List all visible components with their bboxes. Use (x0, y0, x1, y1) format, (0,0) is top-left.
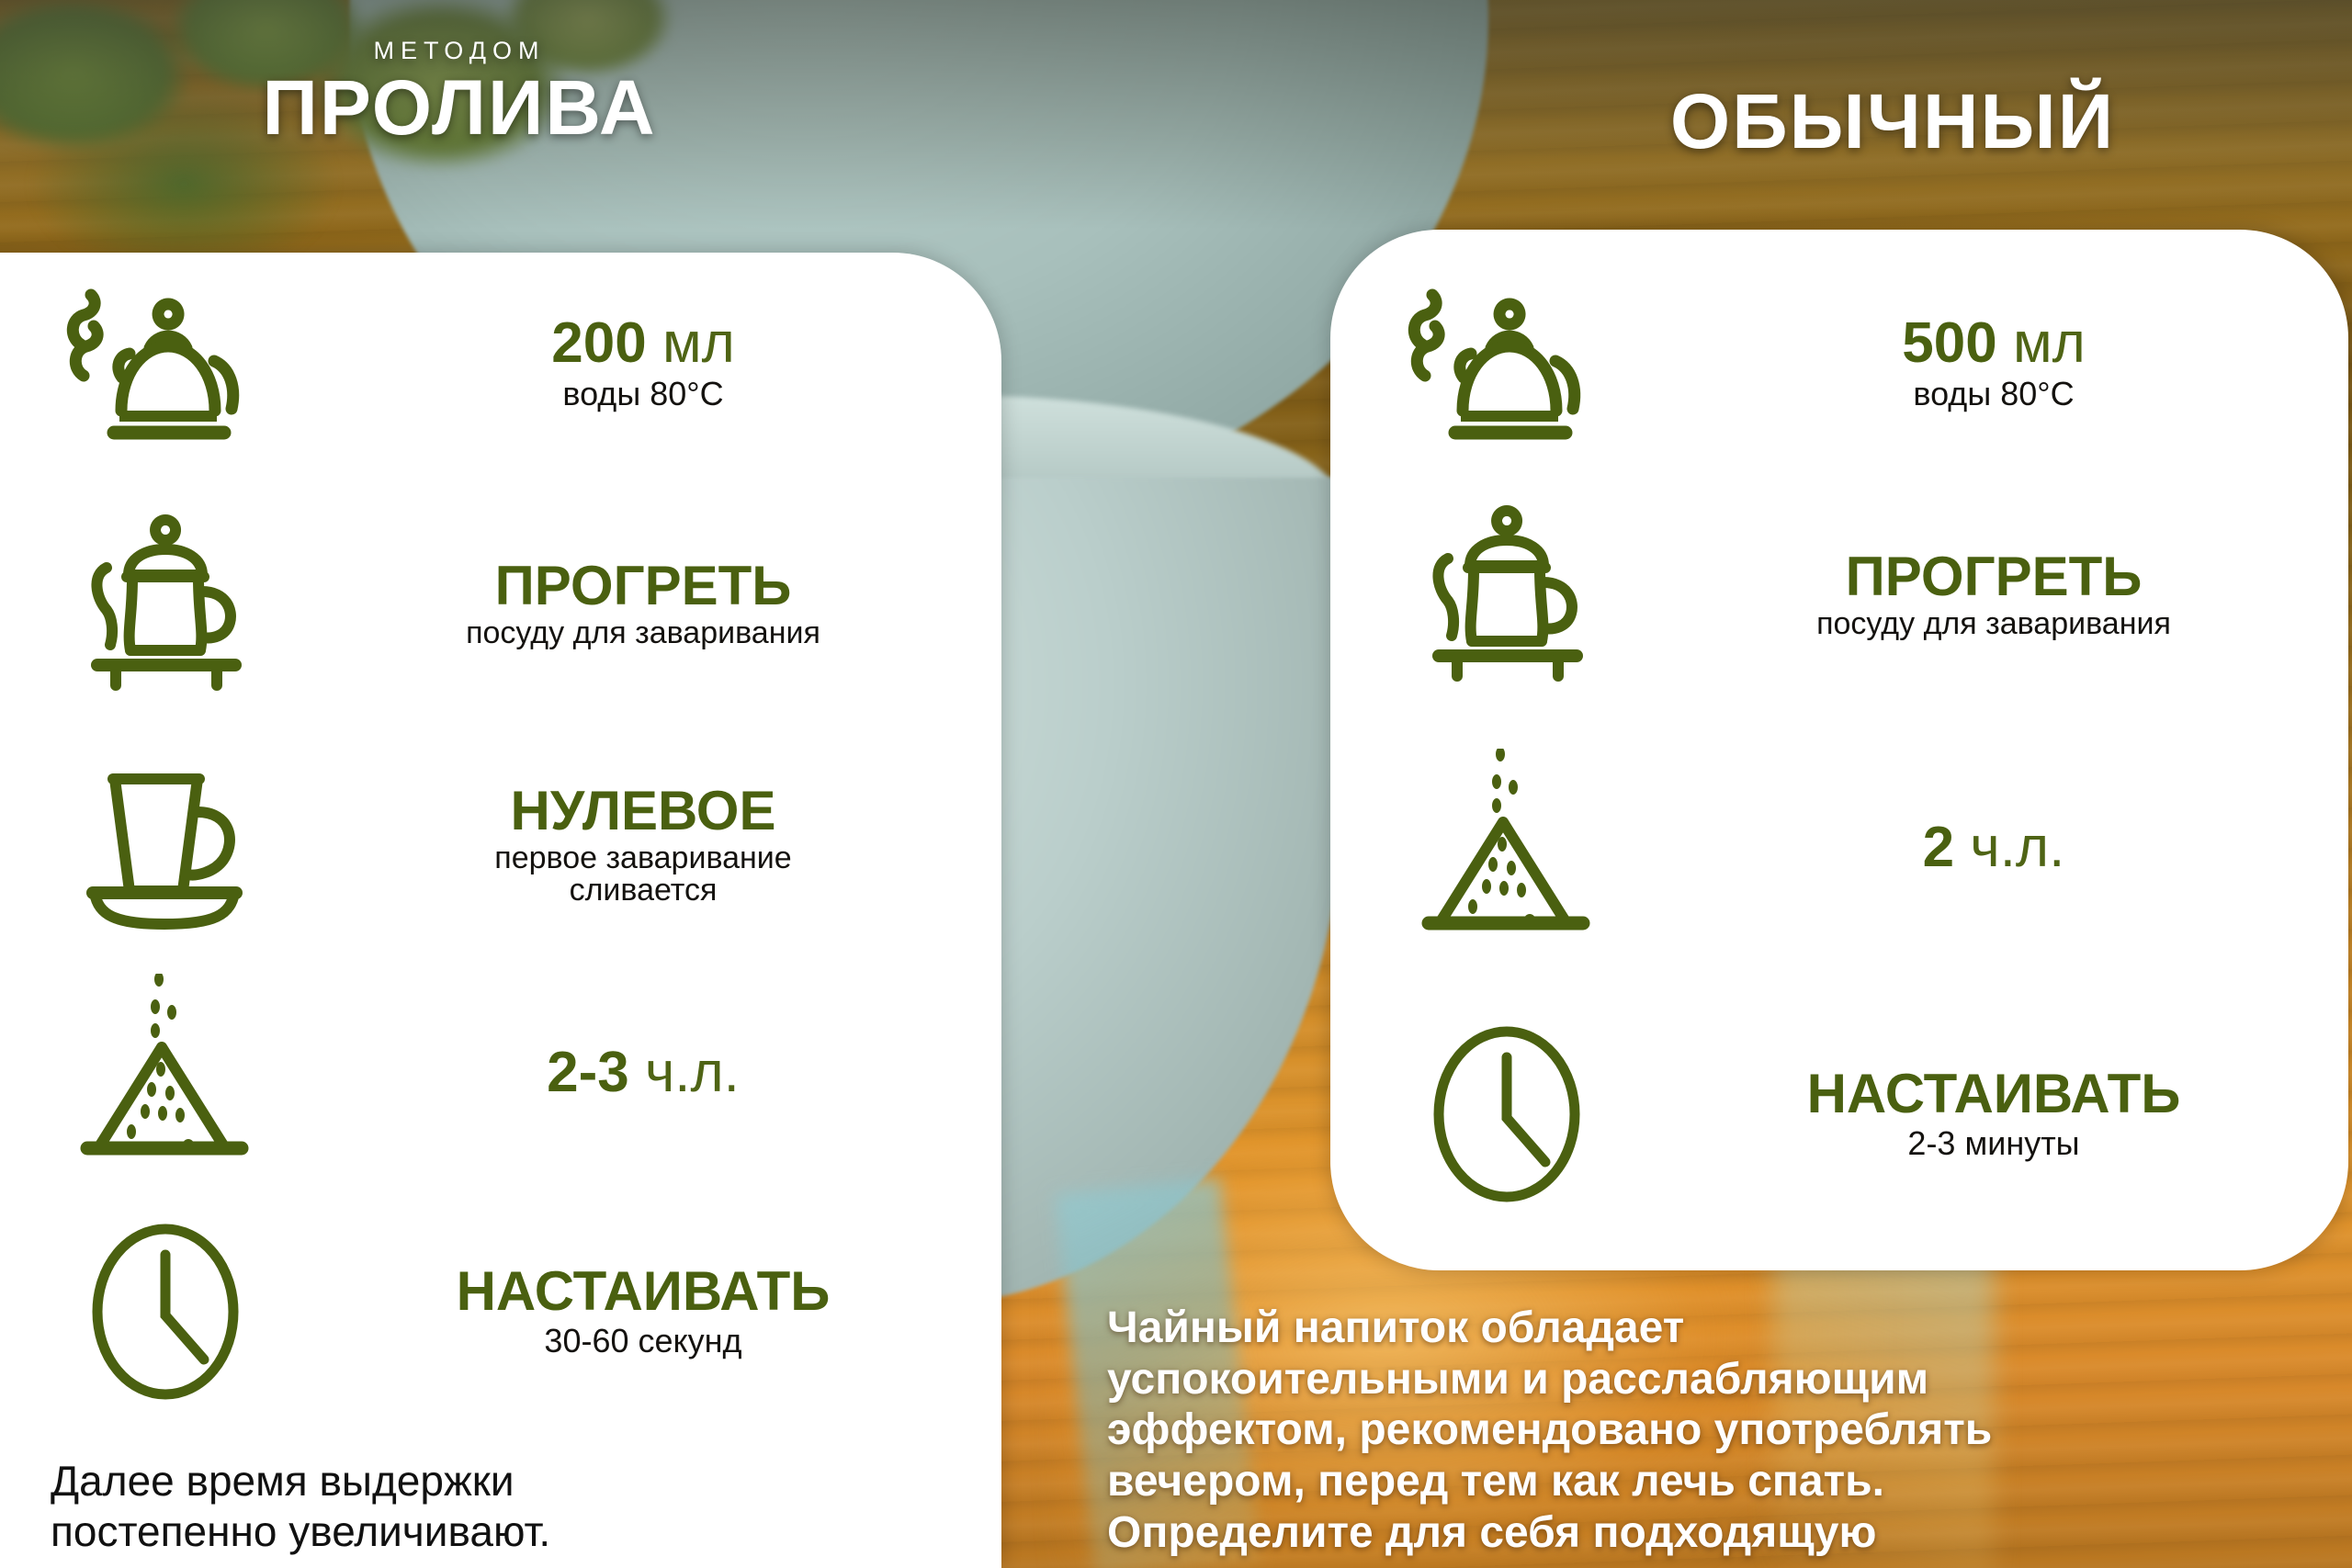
right-tea-unit: ч.л. (1970, 816, 2064, 879)
kettle-steam-icon (1351, 280, 1663, 446)
footer-line1: Чайный напиток обладает (1107, 1303, 2338, 1354)
teapot-icon (9, 514, 322, 694)
left-row-tea-text: 2-3 ч.л. (322, 1043, 965, 1102)
tea-leaves-pile-icon (1351, 749, 1663, 946)
left-tea-unit: ч.л. (645, 1041, 740, 1104)
left-panel-note: Далее время выдержки постепенно увеличив… (51, 1456, 923, 1557)
left-row-warm-vessel: ПРОГРЕТЬ посуду для заваривания (9, 510, 965, 698)
right-row-steep-time: НАСТАИВАТЬ 2-3 минуты (1351, 1015, 2324, 1213)
clock-icon (9, 1220, 322, 1404)
left-row-zero-steep: НУЛЕВОЕ первое заваривание сливается (9, 739, 965, 951)
left-water-number: 200 (551, 311, 646, 375)
footer-line2: успокоительными и расслабляющим (1107, 1354, 2338, 1405)
footer-line4: вечером, перед тем как лечь спать. (1107, 1456, 2338, 1507)
right-time-heading: НАСТАИВАТЬ (1663, 1066, 2324, 1122)
left-row-water-text: 200 мл воды 80°C (322, 313, 965, 412)
right-water-number: 500 (1902, 311, 1996, 375)
cup-saucer-icon (9, 753, 322, 937)
right-warm-heading: ПРОГРЕТЬ (1663, 548, 2324, 604)
left-water-value: 200 мл (322, 313, 965, 373)
right-tea-number: 2 (1923, 816, 1954, 879)
left-row-steep-time: НАСТАИВАТЬ 30-60 секунд (9, 1208, 965, 1415)
left-note-line1: Далее время выдержки (51, 1456, 923, 1506)
left-row-tea-amount: 2-3 ч.л. (9, 969, 965, 1176)
right-tea-value: 2 ч.л. (1663, 818, 2324, 877)
right-water-sub: воды 80°C (1663, 375, 2324, 412)
right-row-water-volume: 500 мл воды 80°C (1351, 276, 2324, 450)
right-time-sub: 2-3 минуты (1663, 1124, 2324, 1162)
right-panel-header: ОБЫЧНЫЙ (1433, 83, 2352, 162)
left-zero-sub-line2: сливается (322, 873, 965, 908)
left-row-warm-text: ПРОГРЕТЬ посуду для заваривания (322, 558, 965, 651)
right-row-tea-amount: 2 ч.л. (1351, 749, 2324, 946)
left-tea-value: 2-3 ч.л. (322, 1043, 965, 1102)
left-zero-sub-line1: первое заваривание (322, 840, 965, 876)
left-warm-sub: посуду для заваривания (322, 615, 965, 651)
left-panel-header: МЕТОДОМ ПРОЛИВА (138, 37, 781, 148)
clock-icon (1351, 1022, 1663, 1206)
right-water-value: 500 мл (1663, 313, 2324, 373)
left-zero-heading: НУЛЕВОЕ (322, 783, 965, 839)
left-header-title: ПРОЛИВА (138, 69, 781, 148)
left-water-sub: воды 80°C (322, 375, 965, 412)
footer-line5: Определите для себя подходящую (1107, 1507, 2338, 1559)
left-time-sub: 30-60 секунд (322, 1322, 965, 1359)
left-header-kicker: МЕТОДОМ (138, 37, 781, 65)
teapot-icon (1351, 505, 1663, 684)
left-row-time-text: НАСТАИВАТЬ 30-60 секунд (322, 1263, 965, 1359)
left-water-unit: мл (662, 311, 735, 375)
right-row-time-text: НАСТАИВАТЬ 2-3 минуты (1663, 1066, 2324, 1161)
tea-leaves-pile-icon (9, 974, 322, 1171)
kettle-steam-icon (9, 280, 322, 446)
left-tea-number: 2-3 (547, 1041, 629, 1104)
right-row-tea-text: 2 ч.л. (1663, 818, 2324, 877)
footer-paragraph: Чайный напиток обладает успокоительными … (1107, 1303, 2338, 1558)
left-row-water-volume: 200 мл воды 80°C (9, 276, 965, 450)
left-note-line2: постепенно увеличивают. (51, 1506, 923, 1557)
right-row-water-text: 500 мл воды 80°C (1663, 313, 2324, 412)
right-header-title: ОБЫЧНЫЙ (1433, 83, 2352, 162)
left-row-zero-text: НУЛЕВОЕ первое заваривание сливается (322, 783, 965, 908)
right-warm-sub: посуду для заваривания (1663, 606, 2324, 642)
left-time-heading: НАСТАИВАТЬ (322, 1263, 965, 1319)
right-row-warm-text: ПРОГРЕТЬ посуду для заваривания (1663, 548, 2324, 642)
footer-line3: эффектом, рекомендовано употреблять (1107, 1404, 2338, 1456)
left-warm-heading: ПРОГРЕТЬ (322, 558, 965, 614)
right-water-unit: мл (2013, 311, 2086, 375)
right-row-warm-vessel: ПРОГРЕТЬ посуду для заваривания (1351, 501, 2324, 689)
